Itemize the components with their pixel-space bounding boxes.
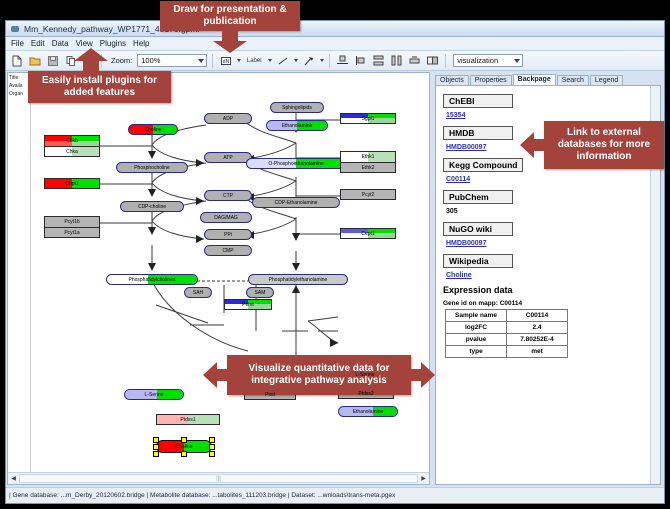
selection-handle[interactable] xyxy=(209,444,215,450)
pathway-canvas[interactable]: Title: Availa Organ xyxy=(8,73,429,473)
node-ethanolamine-top[interactable]: Ethanolamine xyxy=(266,120,328,131)
gene-chpt1[interactable]: Chpt1 xyxy=(44,178,100,189)
gene-id-on-mapp: Gene id on mapp: C00114 xyxy=(443,300,660,307)
zoom-value: 100% xyxy=(141,56,160,65)
gene-cept1[interactable]: Cept1 xyxy=(340,228,396,239)
new-file-icon[interactable] xyxy=(9,53,24,68)
tab-backpage[interactable]: Backpage xyxy=(513,74,556,85)
canvas-hscrollbar[interactable]: ◀ ||| ▶ xyxy=(8,472,429,484)
callout-plugins: Easily install plugins for added feature… xyxy=(28,71,171,103)
gene-pcyt1b[interactable]: Pcyt1b xyxy=(44,216,100,227)
line-dropdown-icon[interactable] xyxy=(294,59,298,62)
gene-pemt[interactable]: Pemt xyxy=(224,299,272,310)
callout-draw: Draw for presentation & publication xyxy=(160,1,300,31)
zoom-combo[interactable]: 100% xyxy=(137,54,207,67)
pathway-canvas-pane[interactable]: Title: Availa Organ xyxy=(7,72,430,485)
gene-ethk1[interactable]: Ethk1 xyxy=(340,151,396,162)
node-label: CDP-Ethanolamine xyxy=(275,200,318,206)
toolbar-divider-3 xyxy=(329,54,330,68)
align-left-icon[interactable] xyxy=(353,53,368,68)
gene-label: Chkb xyxy=(66,138,78,144)
node-label: Ethanolamine xyxy=(282,123,313,129)
node-label: ATP xyxy=(223,155,232,161)
tab-properties[interactable]: Properties xyxy=(470,75,512,85)
callout-plugins-arrow xyxy=(74,48,108,72)
callout-text: Draw for presentation & publication xyxy=(160,1,300,31)
node-sah[interactable]: SAH xyxy=(184,287,212,298)
gene-label: Ethk1 xyxy=(362,154,375,160)
expression-data-title: Expression data xyxy=(443,285,660,295)
node-ctp[interactable]: CTP xyxy=(204,190,252,201)
chebi-link[interactable]: 15354 xyxy=(446,112,660,119)
side-panel-tabs: Objects Properties Backpage Search Legen… xyxy=(431,72,663,85)
label-dropdown-icon[interactable] xyxy=(268,59,272,62)
node-label: SAH xyxy=(193,290,203,296)
node-o-phosphoethanolamine[interactable]: O-Phosphoethanolamine xyxy=(246,158,346,169)
node-label: L-Serine xyxy=(145,392,164,398)
node-label: CTP xyxy=(223,193,233,199)
gene-chkb[interactable]: Chkb xyxy=(44,135,100,146)
open-file-icon[interactable] xyxy=(27,53,42,68)
node-label: DAG/MAG xyxy=(214,215,238,221)
screenshot-root: Mm_Kennedy_pathway_WP1771_45176.gpml Fil… xyxy=(0,0,670,509)
callout-links: Link to external databases for more info… xyxy=(544,121,664,169)
node-phosphocholine[interactable]: Phosphocholine xyxy=(116,162,188,173)
section-nugo-wiki: NuGO wiki HMDB00097 xyxy=(443,219,660,247)
node-ethanolamine-bottom[interactable]: Ethanolamine xyxy=(338,406,398,417)
node-label: Phosphatidylcholines xyxy=(129,277,176,283)
app-icon xyxy=(10,24,20,34)
selection-handle[interactable] xyxy=(181,437,187,443)
callout-text: Link to external databases for more info… xyxy=(544,124,664,166)
section-pubchem: PubChem 305 xyxy=(443,187,660,215)
toolbar-divider-2 xyxy=(212,54,213,68)
nugo-link[interactable]: HMDB00097 xyxy=(446,240,660,247)
gene-label: Pemt xyxy=(242,302,254,308)
label-button[interactable]: Label xyxy=(244,53,264,68)
svg-text:dN: dN xyxy=(223,59,230,65)
chevron-down-icon xyxy=(198,59,204,63)
callout-draw-arrow xyxy=(213,30,247,53)
status-bar: | Gene database: ...m_Derby_20120602.bri… xyxy=(6,487,664,503)
align-bottom-icon[interactable] xyxy=(335,53,350,68)
menu-item-help[interactable]: Help xyxy=(133,39,149,48)
node-label: Ethanolamine xyxy=(353,409,384,415)
gene-label: Sgpl1 xyxy=(362,116,375,122)
node-phosphatidylcholines[interactable]: Phosphatidylcholines xyxy=(106,274,198,285)
callout-visualize: Visualize quantitative data for integrat… xyxy=(227,355,411,395)
expression-key: type xyxy=(446,346,507,358)
menu-item-data[interactable]: Data xyxy=(52,39,69,48)
interaction-tool-icon[interactable] xyxy=(301,53,316,68)
menu-item-edit[interactable]: Edit xyxy=(31,39,45,48)
gene-pcyt1a[interactable]: Pcyt1a xyxy=(44,227,100,238)
visualization-value: visualization xyxy=(457,56,498,65)
callout-visualize-arrow-right xyxy=(409,362,435,388)
gene-label: Chpt1 xyxy=(65,181,78,187)
node-label: Phosphocholine xyxy=(134,165,170,171)
gene-label: Cept1 xyxy=(361,231,374,237)
section-header: NuGO wiki xyxy=(443,222,513,236)
distribute-horizontal-icon[interactable] xyxy=(389,53,404,68)
section-header: Kegg Compound xyxy=(443,158,523,172)
title-bar: Mm_Kennedy_pathway_WP1771_45176.gpml xyxy=(6,21,664,37)
section-header: PubChem xyxy=(443,190,513,204)
kegg-link[interactable]: C00114 xyxy=(446,176,660,183)
gene-chka[interactable]: Chka xyxy=(44,146,100,157)
gene-ethk2[interactable]: Ethk2 xyxy=(340,162,396,173)
selection-handle[interactable] xyxy=(209,437,215,443)
callout-links-arrow xyxy=(520,132,546,158)
node-cmp[interactable]: CMP xyxy=(204,245,252,256)
callout-text: Visualize quantitative data for integrat… xyxy=(227,360,411,390)
node-sam[interactable]: SAM xyxy=(246,287,274,298)
node-label: ADP xyxy=(223,116,233,122)
node-cdp-choline[interactable]: CDP-choline xyxy=(120,201,184,212)
interaction-dropdown-icon[interactable] xyxy=(320,59,324,62)
status-text: | Gene database: ...m_Derby_20120602.bri… xyxy=(9,492,395,499)
expression-value: met xyxy=(507,346,568,358)
selection-handle[interactable] xyxy=(181,451,187,457)
node-adp[interactable]: ADP xyxy=(204,113,252,124)
table-row: pvalue 7.80252E-4 xyxy=(446,334,568,346)
datanode-icon[interactable]: dN xyxy=(218,53,233,68)
visualization-combo[interactable]: visualization xyxy=(453,54,523,67)
node-sphingolipids[interactable]: Sphingolipids xyxy=(270,102,324,113)
table-row: type met xyxy=(446,346,568,358)
gene-pcyt2[interactable]: Pcyt2 xyxy=(340,189,396,200)
table-row: Sample name C00114 xyxy=(446,310,568,322)
node-cdp-ethanolamine[interactable]: CDP-Ethanolamine xyxy=(252,197,340,208)
pubchem-value: 305 xyxy=(446,208,660,215)
order-front-icon[interactable] xyxy=(425,53,440,68)
section-header: Wikipedia xyxy=(443,254,513,268)
gene-label: Pcyt1a xyxy=(64,230,79,236)
expression-key: log2FC xyxy=(446,322,507,334)
wikipedia-link[interactable]: Choline xyxy=(446,272,660,279)
node-label: Sphingolipids xyxy=(282,105,312,111)
tab-search[interactable]: Search xyxy=(557,75,589,85)
expression-value: C00114 xyxy=(507,310,568,322)
expression-value: 7.80252E-4 xyxy=(507,334,568,346)
scroll-right-icon[interactable]: ▶ xyxy=(418,474,429,484)
section-header: HMDB xyxy=(443,126,513,140)
stack-icon[interactable] xyxy=(407,53,422,68)
gene-label: Pisd xyxy=(265,392,275,398)
scroll-grip-icon: ||| xyxy=(216,476,221,482)
selection-handle[interactable] xyxy=(153,451,159,457)
section-wikipedia: Wikipedia Choline xyxy=(443,251,660,279)
line-tool-icon[interactable] xyxy=(275,53,290,68)
expression-table: Sample name C00114 log2FC 2.4 pvalue 7.8… xyxy=(445,309,568,358)
scroll-left-icon[interactable]: ◀ xyxy=(8,474,19,484)
distribute-vertical-icon[interactable] xyxy=(371,53,386,68)
expression-value: 2.4 xyxy=(507,322,568,334)
tab-legend[interactable]: Legend xyxy=(590,75,623,85)
selection-handle[interactable] xyxy=(209,451,215,457)
node-atp[interactable]: ATP xyxy=(204,152,252,163)
save-file-icon[interactable] xyxy=(45,53,60,68)
tab-objects[interactable]: Objects xyxy=(435,75,469,85)
gene-label: Chka xyxy=(66,149,78,155)
hscroll-thumb[interactable]: ||| xyxy=(19,474,418,483)
menu-item-view[interactable]: View xyxy=(76,39,93,48)
node-l-serine-left[interactable]: L-Serine xyxy=(124,389,184,400)
node-label: PPi xyxy=(224,232,232,238)
menu-item-file[interactable]: File xyxy=(11,39,24,48)
selection-handle[interactable] xyxy=(153,437,159,443)
node-choline-top[interactable]: Choline xyxy=(128,124,178,135)
node-phosphatidylethanolamine[interactable]: Phosphatidylethanolamine xyxy=(248,274,348,285)
expression-key: Sample name xyxy=(446,310,507,322)
node-label: L-Serine xyxy=(356,372,375,378)
table-row: log2FC 2.4 xyxy=(446,322,568,334)
gene-label: Pcyt1b xyxy=(64,219,79,225)
node-ppi[interactable]: PPi xyxy=(204,229,252,240)
node-label: SAM xyxy=(255,290,266,296)
section-header: ChEBI xyxy=(443,94,513,108)
node-dagmag-box[interactable]: DAG/MAG xyxy=(200,212,252,223)
section-chebi: ChEBI 15354 xyxy=(443,91,660,119)
node-label: Phosphatidylethanolamine xyxy=(269,277,328,283)
expression-key: pvalue xyxy=(446,334,507,346)
gene-label: Ptdss1 xyxy=(180,417,195,423)
callout-text: Easily install plugins for added feature… xyxy=(28,72,171,102)
selection-handle[interactable] xyxy=(153,444,159,450)
node-label: Choline xyxy=(145,127,162,133)
node-label: CMP xyxy=(222,248,233,254)
gene-label: Ptdss2 xyxy=(358,391,373,397)
node-label: O-Phosphoethanolamine xyxy=(268,161,323,167)
menu-item-plugins[interactable]: Plugins xyxy=(100,39,126,48)
zoom-label: Zoom: xyxy=(111,56,132,65)
callout-visualize-arrow-left xyxy=(203,362,229,388)
chevron-down-icon xyxy=(514,59,520,63)
node-label: CDP-choline xyxy=(138,204,166,210)
gene-sgpl1[interactable]: Sgpl1 xyxy=(340,113,396,124)
datanode-dropdown-icon[interactable] xyxy=(237,59,241,62)
gene-label: Pcyt2 xyxy=(362,192,375,198)
gene-label: Ethk2 xyxy=(362,165,375,171)
node-label: Choline xyxy=(176,444,193,450)
toolbar-divider-4 xyxy=(445,54,446,68)
gene-ptdss1[interactable]: Ptdss1 xyxy=(156,414,220,425)
